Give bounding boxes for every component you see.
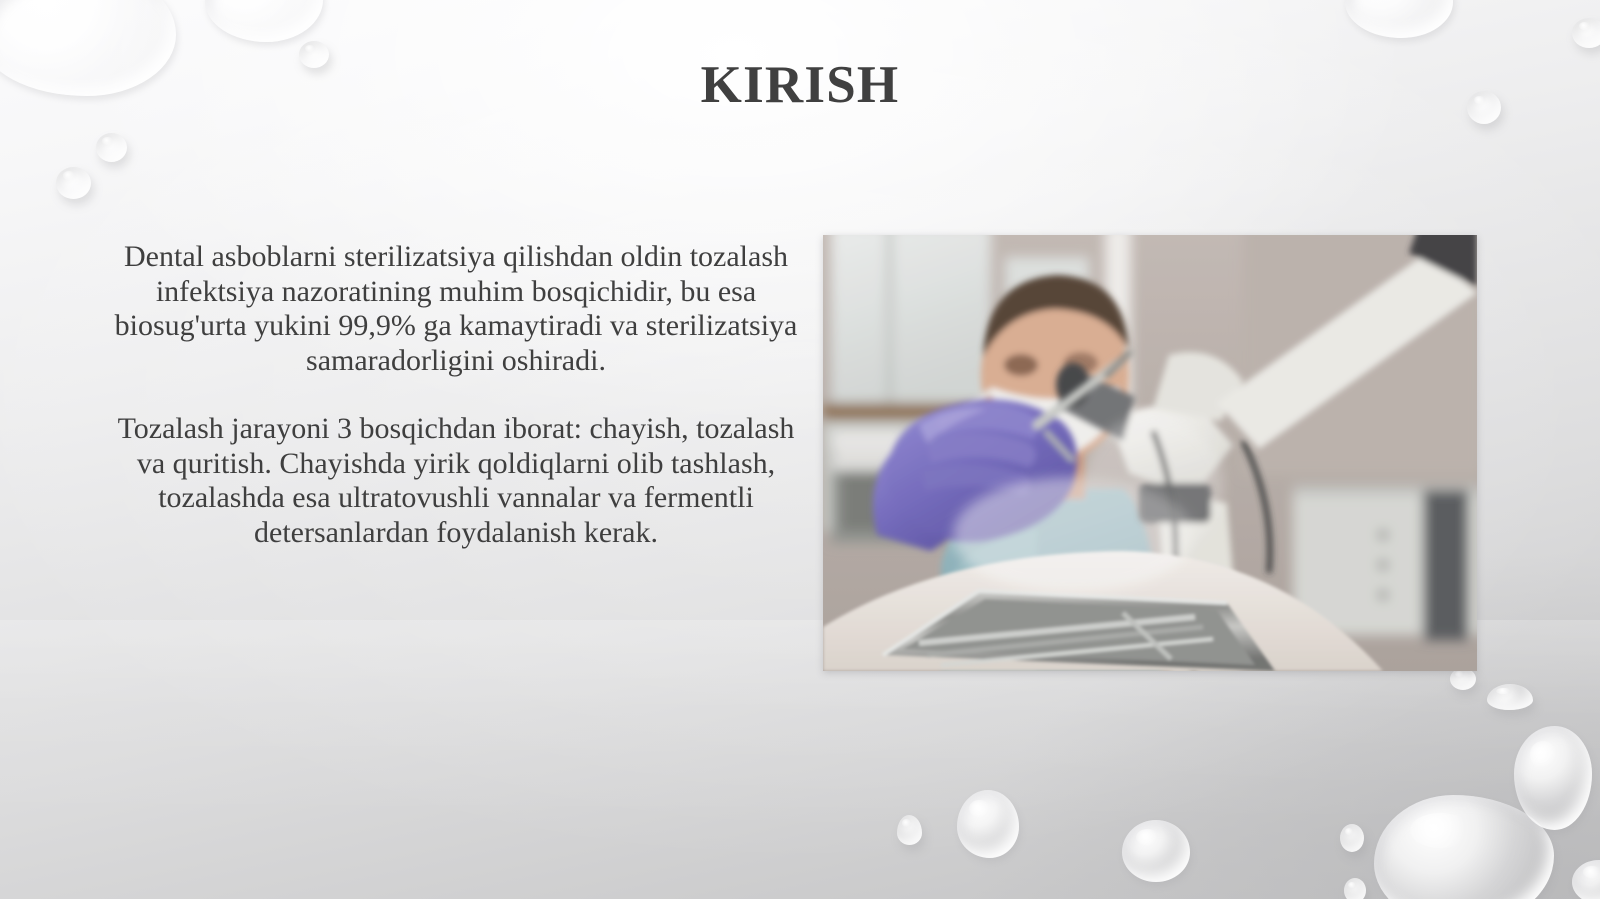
- dental-sterilization-photo: [823, 235, 1477, 671]
- water-droplet-icon: [1345, 0, 1453, 38]
- page-title: KIRISH: [0, 55, 1600, 115]
- body-paragraph-2: Tozalash jarayoni 3 bosqichdan iborat: c…: [110, 412, 802, 550]
- body-paragraph-1: Dental asboblarni sterilizatsiya qilishd…: [110, 240, 802, 378]
- water-droplet-icon: [96, 133, 127, 162]
- water-droplet-icon: [1122, 820, 1190, 882]
- water-droplet-icon: [1344, 878, 1366, 899]
- water-droplet-icon: [205, 0, 323, 42]
- paragraph-spacer: [110, 378, 802, 412]
- water-droplet-icon: [1514, 726, 1592, 830]
- water-droplet-icon: [1374, 795, 1554, 899]
- presentation-slide: KIRISH Dental asboblarni sterilizatsiya …: [0, 0, 1600, 899]
- water-droplet-icon: [957, 790, 1019, 858]
- water-droplet-icon: [56, 167, 91, 199]
- water-droplet-icon: [1572, 18, 1600, 48]
- water-droplet-icon: [1572, 860, 1600, 899]
- slide-body-text: Dental asboblarni sterilizatsiya qilishd…: [110, 240, 802, 550]
- water-droplet-icon: [897, 815, 922, 845]
- water-droplet-icon: [1487, 684, 1533, 710]
- photo-illustration: [823, 235, 1477, 671]
- water-droplet-icon: [1450, 668, 1476, 690]
- water-droplet-icon: [1340, 824, 1364, 852]
